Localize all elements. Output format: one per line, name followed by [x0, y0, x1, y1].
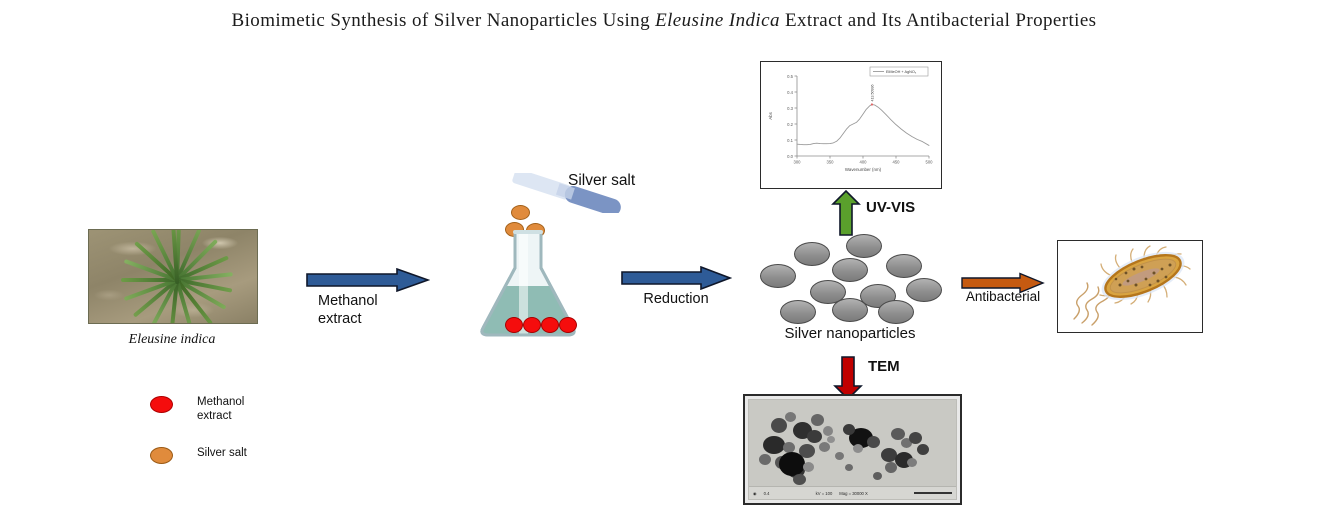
- arrow-methanol-extract-label: Methanol extract: [300, 292, 454, 328]
- plant-photo: [88, 229, 258, 324]
- arrow-uvvis-icon: [830, 190, 862, 236]
- silver-nanoparticles-caption: Silver nanoparticles: [755, 325, 945, 342]
- svg-text:500: 500: [926, 160, 934, 165]
- bacteria-illustration: [1057, 240, 1203, 333]
- svg-text:300: 300: [794, 160, 802, 165]
- nanoparticle-icon: [906, 278, 942, 302]
- nanoparticle-icon: [832, 298, 868, 322]
- nanoparticle-icon: [832, 258, 868, 282]
- arrow-uvvis-label: UV-VIS: [866, 199, 915, 216]
- uvvis-plot-area: 0.00.10.20.30.40.5300350400450500Wavenum…: [761, 62, 938, 185]
- methanol-extract-dot-icon: [541, 317, 559, 333]
- methanol-extract-dot-icon: [523, 317, 541, 333]
- svg-text:0.0: 0.0: [787, 154, 793, 159]
- flask-scene: [455, 165, 640, 340]
- uvvis-spectrum-chart: 0.00.10.20.30.40.5300350400450500Wavenum…: [760, 61, 942, 189]
- title-part-2: Extract and Its Antibacterial Properties: [780, 10, 1097, 31]
- arrow-antibacterial-label: Antibacterial: [944, 288, 1062, 306]
- legend-key: Methanol extract Silver salt: [150, 396, 340, 488]
- tem-info-value: 0.4: [764, 491, 770, 496]
- tem-info-center: kV = 100 Mag = 30000 X: [816, 491, 868, 496]
- silver-nanoparticle-cluster: [760, 234, 940, 320]
- svg-text:413.50936: 413.50936: [870, 84, 874, 101]
- methanol-extract-dot-icon: [559, 317, 577, 333]
- tem-info-left: ◉ 0.4: [753, 491, 769, 496]
- svg-text:0.1: 0.1: [787, 138, 793, 143]
- methanol-extract-dot-icon: [150, 396, 173, 413]
- svg-text:0.5: 0.5: [787, 74, 793, 79]
- svg-text:0.3: 0.3: [787, 106, 793, 111]
- silver-salt-dot-icon: [150, 447, 173, 464]
- legend-item-silver-salt: Silver salt: [150, 447, 340, 464]
- svg-text:450: 450: [893, 160, 901, 165]
- legend-item-label: Methanol extract: [197, 396, 244, 423]
- tem-info-bar: ◉ 0.4 kV = 100 Mag = 30000 X: [749, 486, 956, 499]
- svg-text:0.4: 0.4: [787, 90, 793, 95]
- tem-kv-label: kV = 100: [816, 491, 833, 496]
- figure-canvas: Biomimetic Synthesis of Silver Nanoparti…: [0, 0, 1328, 531]
- svg-text:Wavenumber (nm): Wavenumber (nm): [845, 167, 882, 172]
- arrow-methanol-extract-icon: [305, 268, 430, 290]
- nanoparticle-icon: [794, 242, 830, 266]
- nanoparticle-icon: [878, 300, 914, 324]
- arrow-label-line2: extract: [318, 310, 454, 328]
- tem-logo-icon: ◉: [753, 491, 757, 496]
- nanoparticle-icon: [846, 234, 882, 258]
- tem-scale-group: [914, 492, 952, 494]
- tem-micrograph: ◉ 0.4 kV = 100 Mag = 30000 X: [743, 394, 962, 505]
- legend-label-line1: Methanol: [197, 396, 244, 410]
- legend-label-line1: Silver salt: [197, 447, 247, 461]
- title-part-1: Biomimetic Synthesis of Silver Nanoparti…: [232, 10, 656, 31]
- nanoparticle-icon: [780, 300, 816, 324]
- svg-text:EiMeOH + AgNO₃: EiMeOH + AgNO₃: [886, 70, 917, 74]
- title-species-italic: Eleusine Indica: [655, 10, 780, 31]
- nanoparticle-icon: [760, 264, 796, 288]
- legend-item-label: Silver salt: [197, 447, 247, 461]
- figure-title: Biomimetic Synthesis of Silver Nanoparti…: [0, 10, 1328, 32]
- svg-text:0.2: 0.2: [787, 122, 793, 127]
- plant-caption: Eleusine indica: [88, 332, 256, 348]
- arrow-label-line1: Methanol: [318, 292, 454, 310]
- legend-label-line2: extract: [197, 410, 244, 424]
- silver-salt-label: Silver salt: [568, 172, 635, 190]
- svg-text:350: 350: [827, 160, 835, 165]
- nanoparticle-icon: [886, 254, 922, 278]
- bacterium-icon: [1058, 241, 1199, 329]
- salt-drop-icon: [511, 205, 530, 220]
- methanol-extract-dot-icon: [505, 317, 523, 333]
- tem-scale-bar-icon: [914, 492, 952, 494]
- tem-image-area: ◉ 0.4 kV = 100 Mag = 30000 X: [748, 399, 957, 500]
- arrow-tem-label: TEM: [868, 358, 900, 375]
- legend-item-methanol-extract: Methanol extract: [150, 396, 340, 423]
- svg-text:Abs: Abs: [768, 111, 773, 119]
- svg-text:400: 400: [860, 160, 868, 165]
- tem-mag-label: Mag = 30000 X: [839, 491, 868, 496]
